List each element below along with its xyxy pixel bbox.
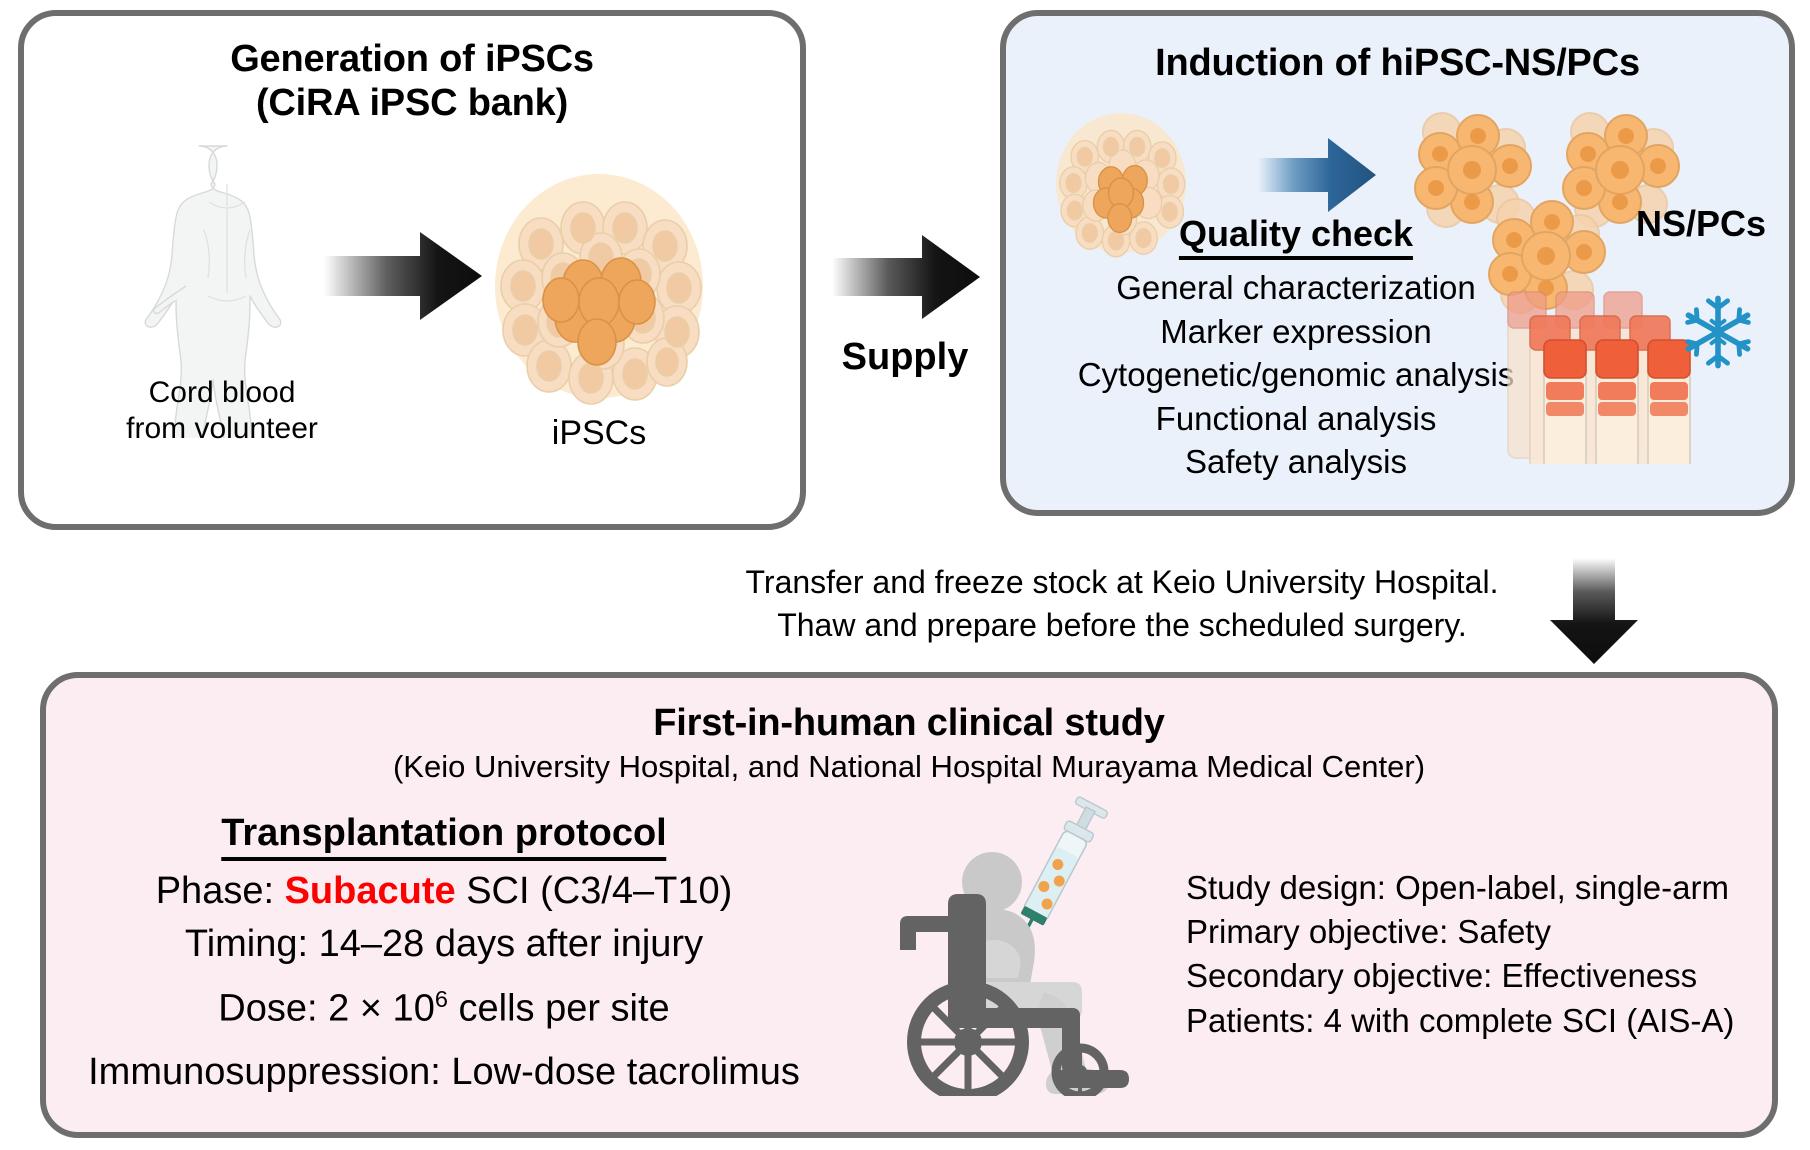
study-design-line: Patients: 4 with complete SCI (AIS-A): [1186, 999, 1734, 1043]
protocol-phase-prefix: Phase:: [156, 870, 285, 912]
arrow-down-icon: [1548, 558, 1640, 666]
quality-check-heading: Quality check: [1179, 214, 1413, 260]
protocol-phase-highlight: Subacute: [285, 870, 456, 912]
wheelchair-patient-icon: [884, 786, 1144, 1096]
human-caption-line2: from volunteer: [126, 412, 318, 446]
protocol-dose-prefix: Dose: 2 × 10: [218, 988, 435, 1030]
clinical-title: First-in-human clinical study: [653, 702, 1165, 745]
panel-induction-of-hipsc-nspcs: Induction of hiPSC-NS/PCs: [1000, 10, 1795, 516]
protocol-line-immunosuppression: Immunosuppression: Low-dose tacrolimus: [88, 1051, 800, 1094]
quality-check-item: Marker expression: [1078, 310, 1515, 354]
transplantation-protocol-heading: Transplantation protocol: [221, 812, 666, 861]
study-design-list: Study design: Open-label, single-arm Pri…: [1186, 866, 1734, 1043]
figure-canvas: Generation of iPSCs (CiRA iPSC bank) Cor…: [0, 0, 1810, 1150]
clinical-subtitle: (Keio University Hospital, and National …: [393, 750, 1425, 785]
quality-check-item: Functional analysis: [1078, 397, 1515, 441]
protocol-line-phase: Phase: Subacute SCI (C3/4–T10): [88, 870, 800, 913]
transfer-text-line2: Thaw and prepare before the scheduled su…: [777, 608, 1467, 644]
ipsc-colony-label: iPSCs: [552, 414, 646, 452]
ipsc-colony-icon: [479, 166, 719, 406]
protocol-dose-suffix: cells per site: [448, 988, 670, 1030]
panel-first-in-human-clinical-study: First-in-human clinical study (Keio Univ…: [40, 672, 1778, 1138]
quality-check-item: Safety analysis: [1078, 440, 1515, 484]
nspcs-label: NS/PCs: [1636, 204, 1766, 244]
quality-check-heading-text: Quality check: [1179, 214, 1413, 260]
protocol-line-dose: Dose: 2 × 106 cells per site: [88, 986, 800, 1031]
generation-title-line1: Generation of iPSCs: [230, 38, 594, 81]
snowflake-icon: [1678, 292, 1758, 372]
induction-title: Induction of hiPSC-NS/PCs: [1155, 42, 1640, 85]
study-design-line: Study design: Open-label, single-arm: [1186, 866, 1734, 910]
transplantation-protocol-heading-text: Transplantation protocol: [221, 812, 666, 861]
protocol-phase-suffix: SCI (C3/4–T10): [456, 870, 733, 912]
ipsc-colony-icon: [1046, 108, 1196, 258]
transplantation-protocol-list: Phase: Subacute SCI (C3/4–T10) Timing: 1…: [88, 870, 800, 1094]
quality-check-item: General characterization: [1078, 266, 1515, 310]
study-design-line: Secondary objective: Effectiveness: [1186, 954, 1734, 998]
generation-title-line2: (CiRA iPSC bank): [256, 82, 568, 125]
supply-label: Supply: [842, 336, 969, 379]
study-design-line: Primary objective: Safety: [1186, 910, 1734, 954]
panel-generation-of-ipscs: Generation of iPSCs (CiRA iPSC bank) Cor…: [18, 10, 806, 530]
quality-check-list: General characterization Marker expressi…: [1078, 266, 1515, 484]
arrow-right-icon: [832, 232, 982, 322]
arrow-right-icon: [1258, 136, 1378, 214]
protocol-line-timing: Timing: 14–28 days after injury: [88, 923, 800, 966]
human-caption-line1: Cord blood: [149, 376, 296, 410]
quality-check-item: Cytogenetic/genomic analysis: [1078, 353, 1515, 397]
arrow-right-icon: [324, 228, 484, 324]
protocol-dose-exponent: 6: [435, 986, 448, 1012]
transfer-text-line1: Transfer and freeze stock at Keio Univer…: [746, 565, 1499, 601]
